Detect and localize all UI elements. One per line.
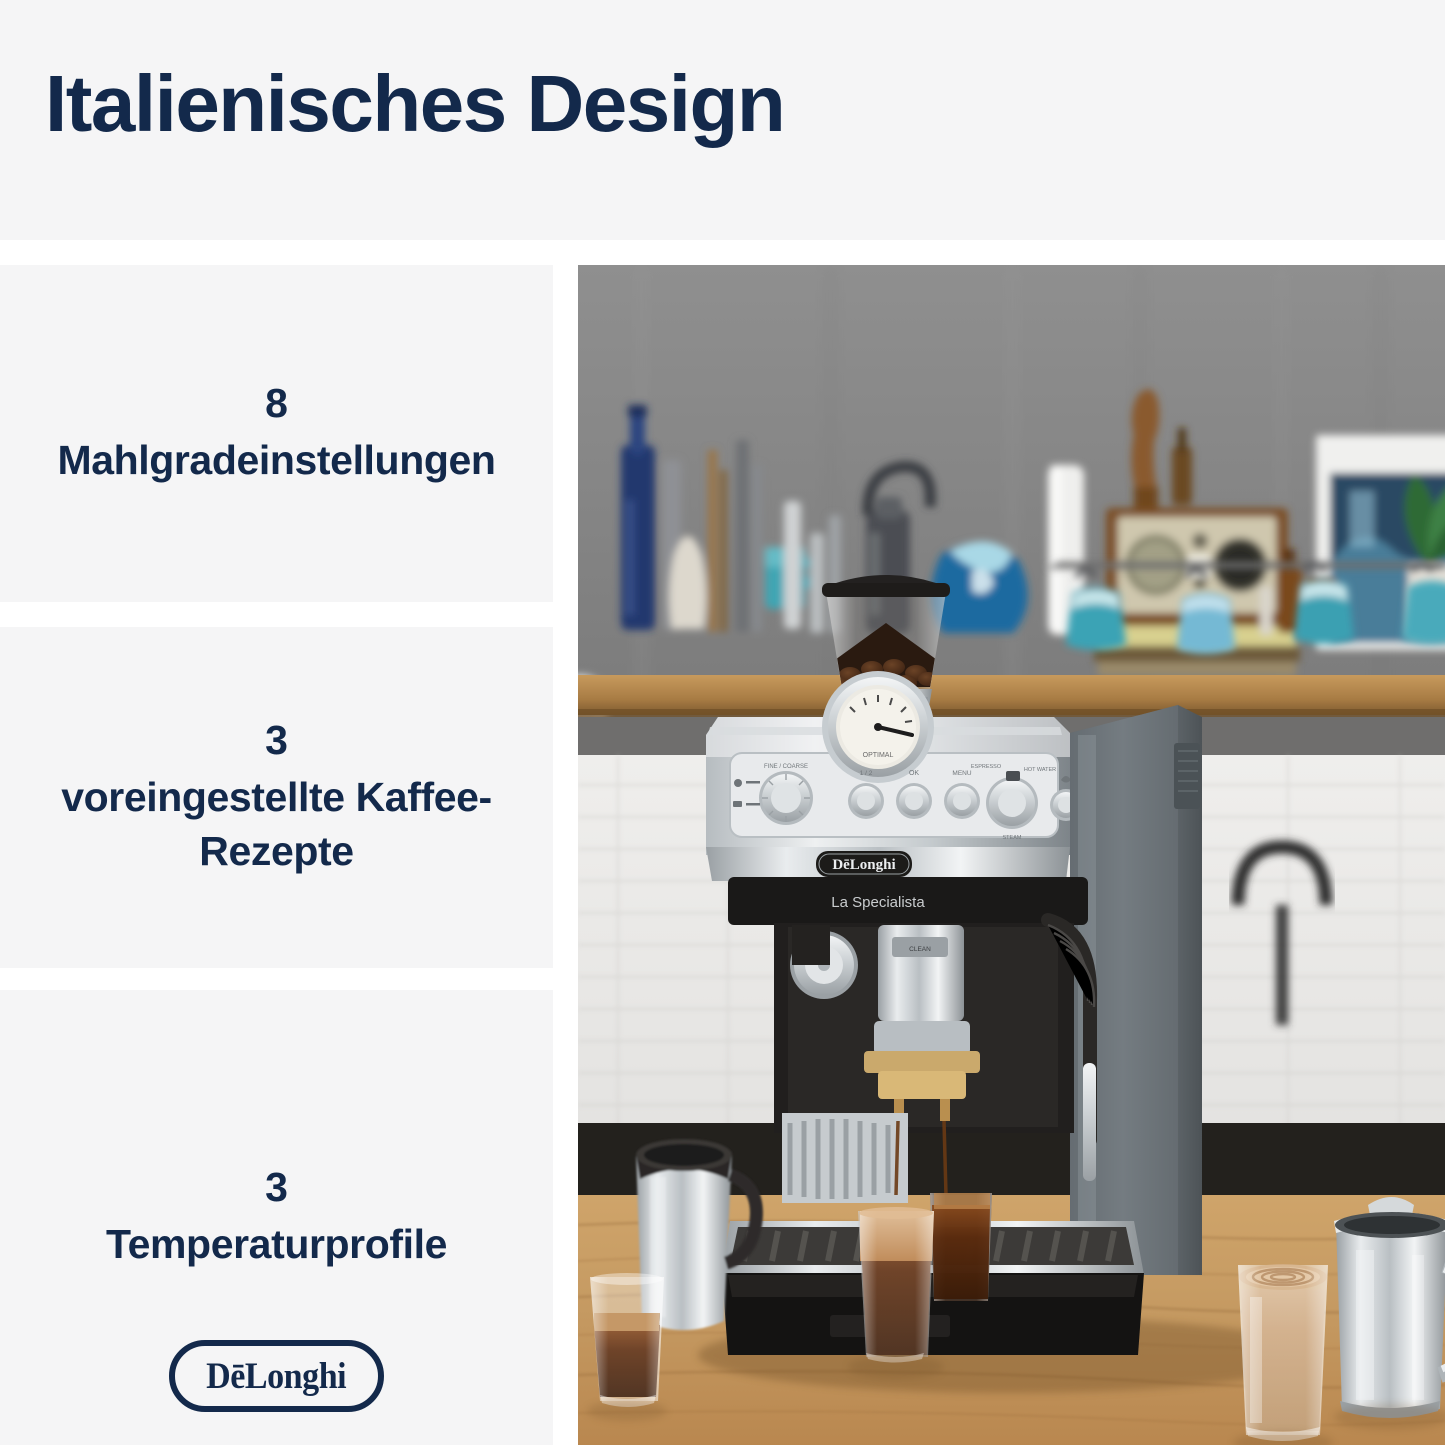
steel-frothing-pitcher — [1334, 1197, 1445, 1418]
fact-card-coffee-recipes: 3 voreingestellte Kaffee-Rezepte — [0, 627, 553, 968]
svg-text:STEAM: STEAM — [1003, 835, 1022, 841]
svg-text:OPTIMAL: OPTIMAL — [863, 752, 894, 759]
page-title: Italienisches Design — [45, 62, 784, 146]
kitchen-scene-illustration: OPTIMAL — [578, 265, 1445, 1445]
espresso-shot-glass — [590, 1273, 664, 1407]
fact-label: Mahlgradeinstellungen — [57, 433, 495, 487]
svg-text:CLEAN: CLEAN — [909, 946, 931, 953]
svg-text:FINE / COARSE: FINE / COARSE — [764, 764, 808, 770]
latte-glass — [1238, 1264, 1328, 1441]
svg-text:MENU: MENU — [952, 770, 971, 777]
fact-label: Temperaturprofile — [106, 1217, 447, 1271]
header-band: Italienisches Design — [0, 0, 1445, 240]
delonghi-logo-text: DēLonghi — [206, 1355, 346, 1398]
brand-logo-container: DēLonghi — [0, 1340, 553, 1412]
machine-brand-badge: DēLonghi — [832, 857, 895, 873]
coffee-glass-front — [858, 1207, 934, 1363]
fact-number: 3 — [265, 717, 288, 764]
fact-label: voreingestellte Kaffee-Rezepte — [27, 770, 527, 878]
fact-number: 8 — [265, 380, 288, 427]
svg-text:HOT WATER: HOT WATER — [1024, 767, 1056, 773]
fact-card-grind-settings: 8 Mahlgradeinstellungen — [0, 265, 553, 602]
svg-text:OK: OK — [909, 770, 919, 777]
coffee-glass-back — [930, 1193, 992, 1301]
fact-number: 3 — [265, 1164, 288, 1211]
promo-page: Italienisches Design 8 Mahlgradeinstellu… — [0, 0, 1445, 1445]
svg-text:1 / 2: 1 / 2 — [860, 770, 873, 777]
machine-model-label: La Specialista — [831, 894, 925, 911]
product-photo: OPTIMAL — [578, 265, 1445, 1445]
svg-text:ESPRESSO: ESPRESSO — [971, 764, 1002, 770]
facts-column: 8 Mahlgradeinstellungen 3 voreingestellt… — [0, 265, 553, 1445]
delonghi-logo: DēLonghi — [169, 1340, 384, 1412]
